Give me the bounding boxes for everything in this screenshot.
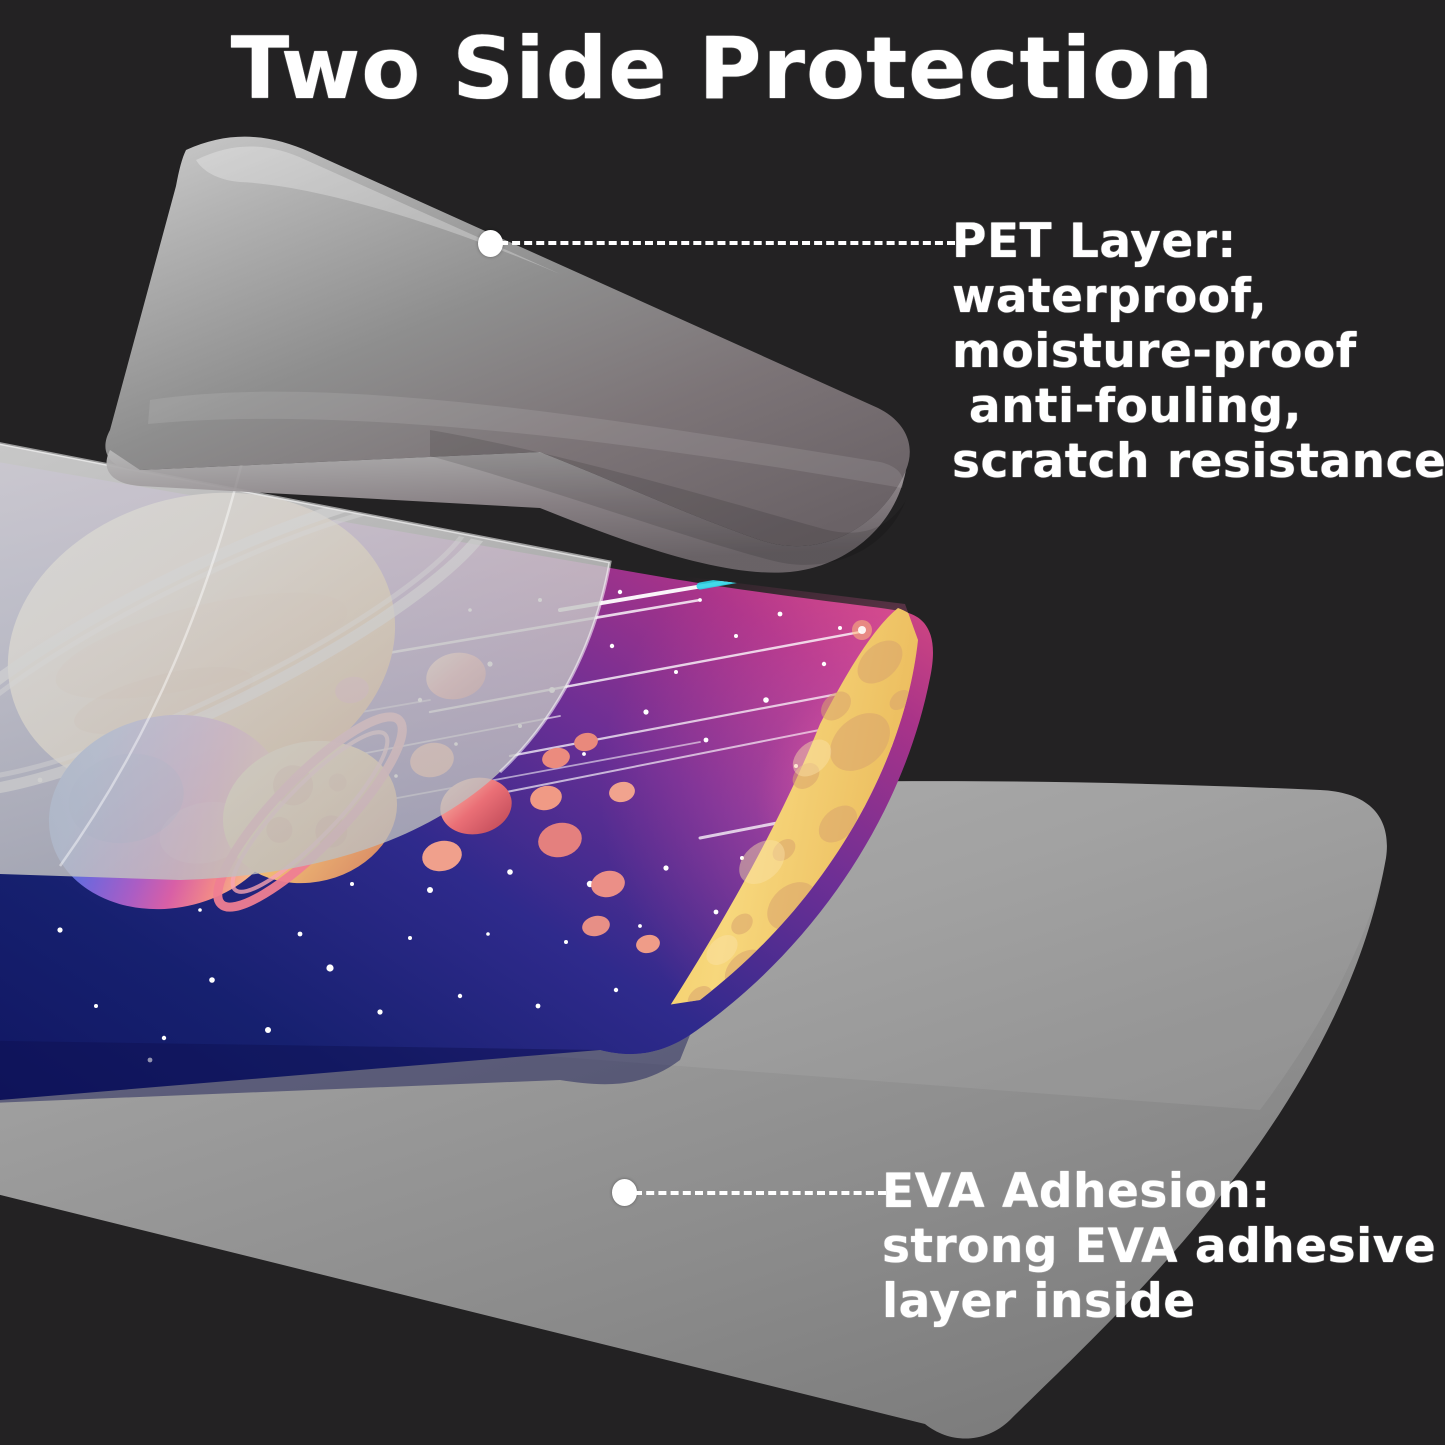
- infographic-canvas: Two Side Protection PET Layer: waterproo…: [0, 0, 1445, 1445]
- page-title: Two Side Protection: [0, 24, 1445, 114]
- callout-pet-layer: PET Layer: waterproof, moisture-proof an…: [952, 214, 1445, 489]
- callout-eva-adhesion: EVA Adhesion: strong EVA adhesive layer …: [882, 1164, 1436, 1329]
- pet-leader-line: [500, 241, 955, 245]
- comet-head-secondary: [852, 620, 872, 640]
- eva-leader-line: [634, 1191, 886, 1195]
